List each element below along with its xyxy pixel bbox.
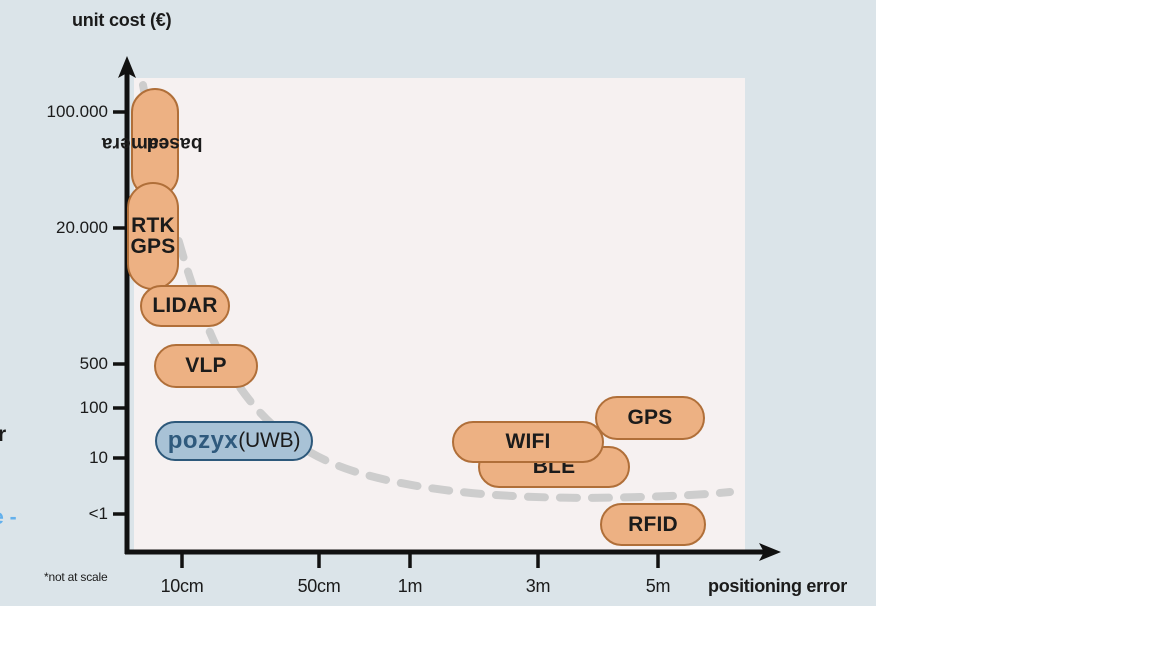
- y-tick-label-100: 100: [20, 398, 108, 418]
- data-pill-lidar[interactable]: LIDAR: [140, 285, 230, 327]
- pozyx-brand-label: pozyx: [168, 427, 239, 455]
- rtk-line-2: GPS: [131, 235, 176, 258]
- y-tick-label-lt1: <1: [20, 504, 108, 524]
- clipped-text-fragment-dark: r: [0, 423, 6, 447]
- slide-root: unit cost (€) positioning error *not at …: [0, 0, 1152, 648]
- y-tick-label-20000: 20.000: [20, 218, 108, 238]
- x-axis-title: positioning error: [708, 576, 847, 597]
- y-tick-label-10: 10: [20, 448, 108, 468]
- data-pill-rfid-label: RFID: [628, 513, 678, 537]
- data-pill-wifi-label: WIFI: [505, 430, 550, 454]
- data-pill-gps[interactable]: GPS: [595, 396, 705, 440]
- data-pill-rfid[interactable]: RFID: [600, 503, 706, 546]
- data-pill-wifi[interactable]: WIFI: [452, 421, 604, 463]
- data-pill-vlp[interactable]: VLP: [154, 344, 258, 388]
- camera-line-2: based: [141, 133, 209, 152]
- data-pill-gps-label: GPS: [628, 406, 673, 430]
- data-pill-rtk-gps-label: RTK GPS: [131, 215, 176, 258]
- x-tick-label-3m: 3m: [526, 576, 550, 597]
- data-pill-lidar-label: LIDAR: [152, 294, 217, 318]
- y-tick-label-500: 500: [20, 354, 108, 374]
- y-axis-title: unit cost (€): [72, 10, 171, 31]
- data-pill-vlp-label: VLP: [185, 354, 226, 378]
- footnote-not-at-scale: *not at scale: [44, 570, 107, 584]
- y-tick-label-100000: 100.000: [20, 102, 108, 122]
- x-tick-label-50cm: 50cm: [298, 576, 341, 597]
- data-pill-pozyx-uwb[interactable]: pozyx(UWB): [155, 421, 313, 461]
- rtk-line-1: RTK: [131, 214, 175, 237]
- data-pill-rtk-gps[interactable]: RTK GPS: [127, 182, 179, 290]
- clipped-text-fragment-blue: re -: [0, 506, 17, 530]
- x-tick-label-10cm: 10cm: [161, 576, 204, 597]
- data-pill-camera-based-label: camerabased: [126, 109, 184, 177]
- pozyx-uwb-label: (UWB): [238, 429, 300, 453]
- x-tick-label-5m: 5m: [646, 576, 670, 597]
- x-tick-label-1m: 1m: [398, 576, 422, 597]
